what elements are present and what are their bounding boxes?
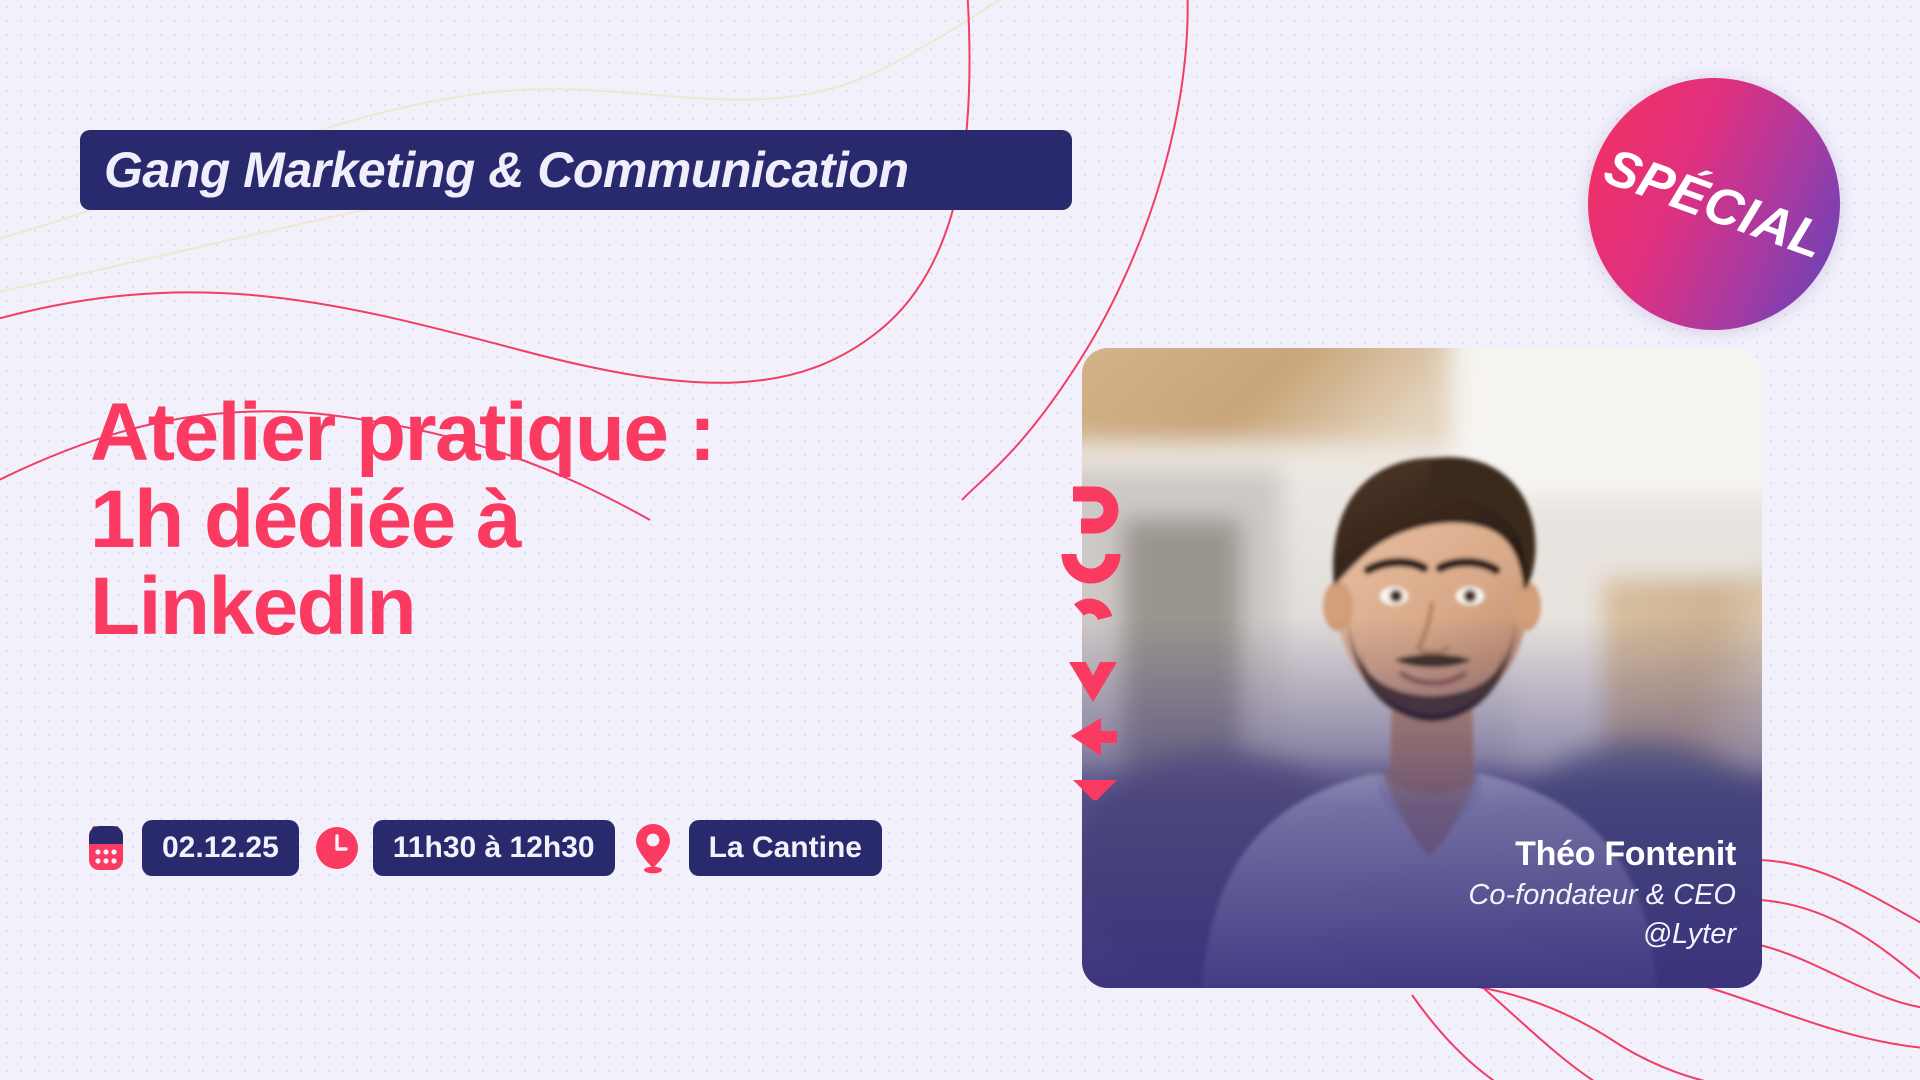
location-pin-icon	[631, 823, 675, 873]
event-title-bar: Gang Marketing & Communication	[80, 130, 1072, 210]
speaker-info: Théo Fontenit Co-fondateur & CEO @Lyter	[1468, 833, 1736, 954]
headline-line-3: LinkedIn	[90, 564, 850, 651]
special-badge: SPÉCIAL	[1588, 78, 1840, 330]
speaker-role: Co-fondateur & CEO	[1468, 876, 1736, 915]
clock-icon	[315, 823, 359, 873]
speaker-company: @Lyter	[1468, 915, 1736, 954]
speaker-name: Théo Fontenit	[1468, 833, 1736, 876]
speaker-photo-card: Théo Fontenit Co-fondateur & CEO @Lyter	[1082, 348, 1762, 988]
event-poster: Gang Marketing & Communication Atelier p…	[0, 0, 1920, 1080]
event-time-chip: 11h30 à 12h30	[373, 820, 615, 876]
event-date-group: 02.12.25	[84, 820, 299, 876]
event-time-group: 11h30 à 12h30	[315, 820, 615, 876]
event-location-chip: La Cantine	[689, 820, 882, 876]
special-badge-label: SPÉCIAL	[1596, 137, 1832, 272]
headline-line-1: Atelier pratique :	[90, 390, 850, 477]
event-details-row: 02.12.25 11h30 à 12h30 La Cantine	[84, 820, 882, 876]
event-date-chip: 02.12.25	[142, 820, 299, 876]
calendar-icon	[84, 823, 128, 873]
headline-line-2: 1h dédiée à	[90, 477, 850, 564]
headline: Atelier pratique : 1h dédiée à LinkedIn	[90, 390, 850, 651]
event-title-text: Gang Marketing & Communication	[104, 141, 909, 199]
event-location-group: La Cantine	[631, 820, 882, 876]
